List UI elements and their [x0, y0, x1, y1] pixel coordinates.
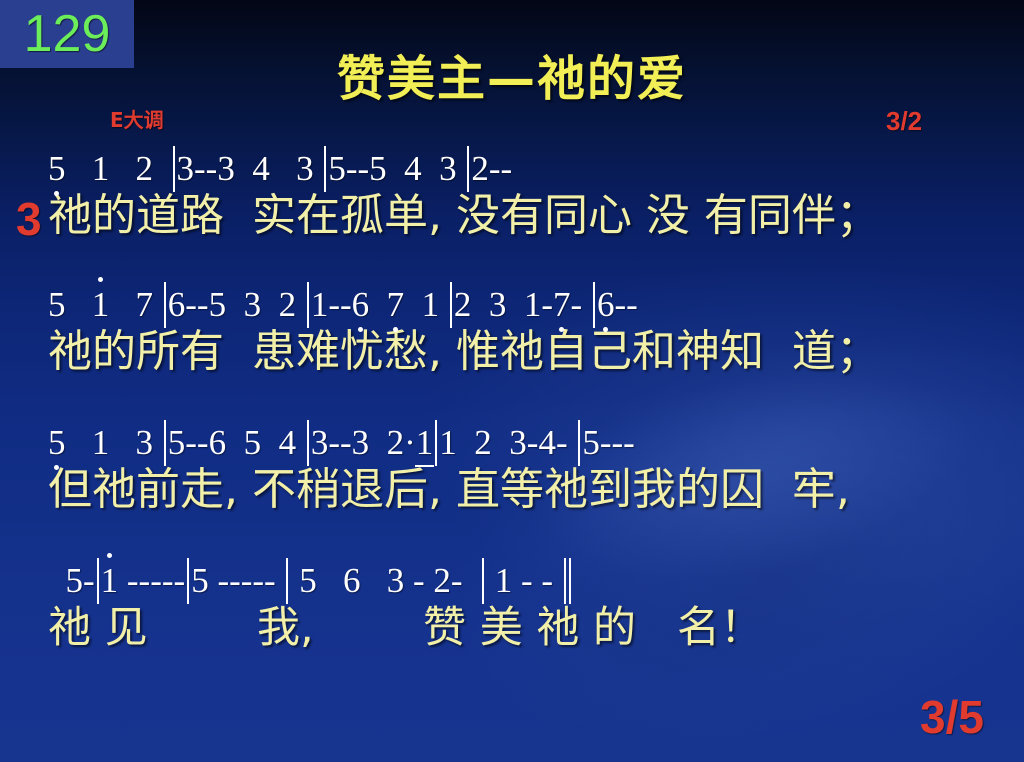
- note: 4: [538, 423, 556, 463]
- lyrics-row-3: 但祂前走, 不稍退后, 直等祂到我的囚 牢,: [48, 464, 1000, 520]
- note: 4: [252, 149, 270, 189]
- note: 1: [101, 561, 119, 601]
- barline: [286, 558, 288, 604]
- verse-number-label: 3: [16, 196, 42, 242]
- note: 2: [454, 285, 472, 325]
- lyrics-row-2: 祂的所有 患难忧愁, 惟祂自己和神知 道；: [48, 326, 1000, 382]
- page-number: 3/5: [920, 694, 984, 740]
- note: 3: [177, 149, 195, 189]
- barline: [164, 282, 166, 328]
- notation-row-2: 5 1 7 6--5 3 2 1--6 7 1 2 3 1-7- 6--: [48, 282, 1000, 326]
- barline: [593, 282, 595, 328]
- note: 1: [524, 285, 542, 325]
- note: 3: [489, 285, 507, 325]
- notation-row-4: 5-1 -----5 ----- 5 6 3 - 2- 1 - -: [48, 558, 1000, 602]
- note: 7: [387, 285, 405, 325]
- barline: [435, 420, 437, 466]
- stave-line-3: 5 1 3 5--6 5 4 3--3 2·11 2 3-4- 5--- 但祂前…: [48, 420, 1000, 520]
- note: 2: [474, 423, 492, 463]
- notation-row-1: 5 1 2 3--3 4 3 5--5 4 3 2--: [48, 146, 1000, 190]
- note: 5: [66, 561, 84, 601]
- stave-line-1: 5 1 2 3--3 4 3 5--5 4 3 2-- 祂的道路 实在孤单, 没…: [48, 146, 1000, 246]
- barline: [164, 420, 166, 466]
- final-double-barline: [564, 558, 566, 604]
- note: 1: [92, 149, 110, 189]
- note: 3: [439, 149, 457, 189]
- note: 5: [369, 149, 387, 189]
- barline: [482, 558, 484, 604]
- key-signature-label: E大调: [110, 110, 164, 130]
- note: 5: [48, 423, 66, 463]
- note: 2: [136, 149, 154, 189]
- note: 6: [168, 285, 186, 325]
- barline: [467, 146, 469, 192]
- note: 6: [597, 285, 615, 325]
- note: 4: [404, 149, 422, 189]
- note: 5: [48, 285, 66, 325]
- note: 5: [328, 149, 346, 189]
- barline: [450, 282, 452, 328]
- note: 1: [311, 285, 329, 325]
- barline: [173, 146, 175, 192]
- note: 7: [553, 285, 571, 325]
- note: 2: [433, 561, 451, 601]
- time-signature-label: 3/2: [886, 108, 922, 134]
- note: 5: [582, 423, 600, 463]
- note: 3: [244, 285, 262, 325]
- barline: [324, 146, 326, 192]
- note: 3: [296, 149, 314, 189]
- note: 3: [387, 561, 405, 601]
- barline: [307, 282, 309, 328]
- note: 3: [136, 423, 154, 463]
- note: 2: [471, 149, 489, 189]
- note: 6: [209, 423, 227, 463]
- note: 5: [48, 149, 66, 189]
- lyrics-row-4: 祂 见 我, 赞 美 祂 的 名！: [48, 602, 1000, 658]
- note: 1: [92, 423, 110, 463]
- stave-line-2: 5 1 7 6--5 3 2 1--6 7 1 2 3 1-7- 6-- 祂的所…: [48, 282, 1000, 382]
- notation-row-3: 5 1 3 5--6 5 4 3--3 2·11 2 3-4- 5---: [48, 420, 1000, 464]
- page-title: 赞美主—祂的爱: [0, 52, 1024, 106]
- note: 5: [244, 423, 262, 463]
- note: 3: [352, 423, 370, 463]
- note: 5: [299, 561, 317, 601]
- note: 2: [387, 423, 405, 463]
- note: 6: [343, 561, 361, 601]
- note: 3: [217, 149, 235, 189]
- note: 5: [209, 285, 227, 325]
- barline: [578, 420, 580, 466]
- note: 6: [352, 285, 370, 325]
- barline: [187, 558, 189, 604]
- note: 5: [191, 561, 209, 601]
- note: 4: [279, 423, 297, 463]
- note: 3: [311, 423, 329, 463]
- note: 2: [279, 285, 297, 325]
- note: 1: [92, 285, 110, 325]
- slide-canvas: 129 赞美主—祂的爱 E大调 3/2 3 5 1 2 3--3 4 3 5--…: [0, 0, 1024, 762]
- note: 1: [495, 561, 513, 601]
- note: 1: [439, 423, 457, 463]
- note: 1: [416, 423, 434, 463]
- note: 5: [168, 423, 186, 463]
- note: 7: [136, 285, 154, 325]
- note: 3: [509, 423, 527, 463]
- note: 1: [422, 285, 440, 325]
- barline: [97, 558, 99, 604]
- lyrics-row-1: 祂的道路 实在孤单, 没有同心 没 有同伴；: [48, 190, 1000, 246]
- barline: [307, 420, 309, 466]
- stave-line-4: 5-1 -----5 ----- 5 6 3 - 2- 1 - - 祂 见 我,…: [48, 558, 1000, 658]
